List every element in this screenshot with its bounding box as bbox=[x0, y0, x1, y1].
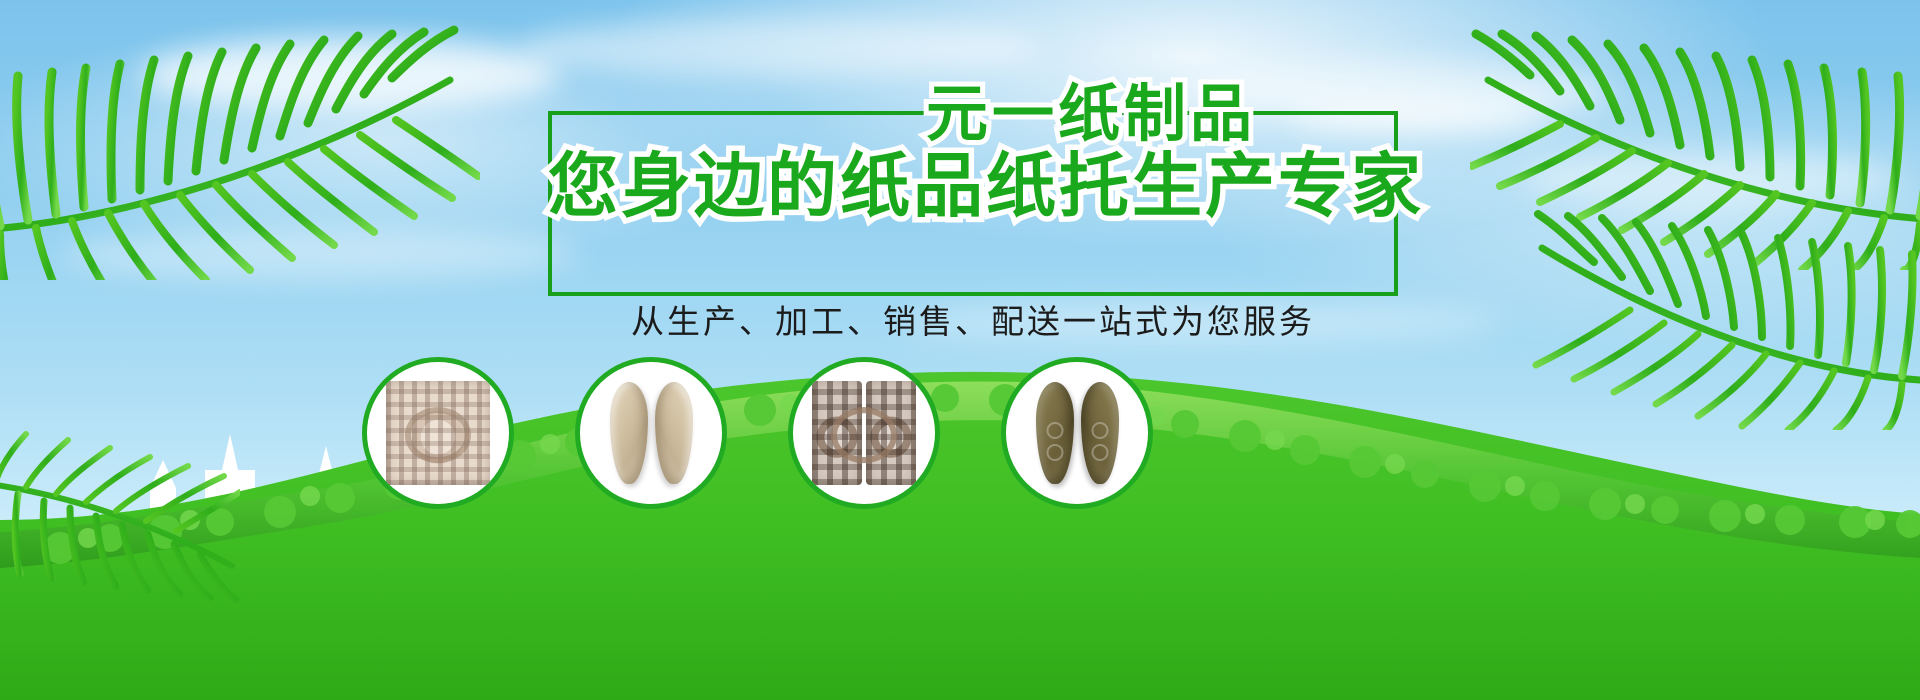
tray-graphic bbox=[386, 381, 490, 485]
insole-pair-dark-graphic bbox=[1025, 381, 1129, 485]
insole-pair-graphic bbox=[599, 381, 703, 485]
product-image-molded-pulp-tray bbox=[386, 381, 490, 485]
product-image-paper-insole-dark bbox=[1025, 381, 1129, 485]
promotional-banner: 元一纸制品 您身边的纸品纸托生产专家 从生产、加工、销售、配送一站式为您服务 bbox=[0, 0, 1920, 700]
product-circle-paper-insole-light[interactable] bbox=[575, 357, 727, 509]
insole-right bbox=[655, 382, 693, 484]
product-image-molded-pulp-tray-pair bbox=[812, 381, 916, 485]
product-image-paper-insole-light bbox=[599, 381, 703, 485]
product-circle-paper-insole-dark[interactable] bbox=[1001, 357, 1153, 509]
product-circle-molded-pulp-tray[interactable] bbox=[362, 357, 514, 509]
tray-graphic-right bbox=[866, 381, 916, 485]
product-showcase bbox=[0, 0, 1920, 700]
tray-pair-graphic bbox=[812, 381, 916, 485]
insole-left bbox=[610, 382, 648, 484]
product-circle-molded-pulp-tray-pair[interactable] bbox=[788, 357, 940, 509]
insole-dark-right bbox=[1081, 382, 1119, 484]
insole-dark-left bbox=[1036, 382, 1074, 484]
